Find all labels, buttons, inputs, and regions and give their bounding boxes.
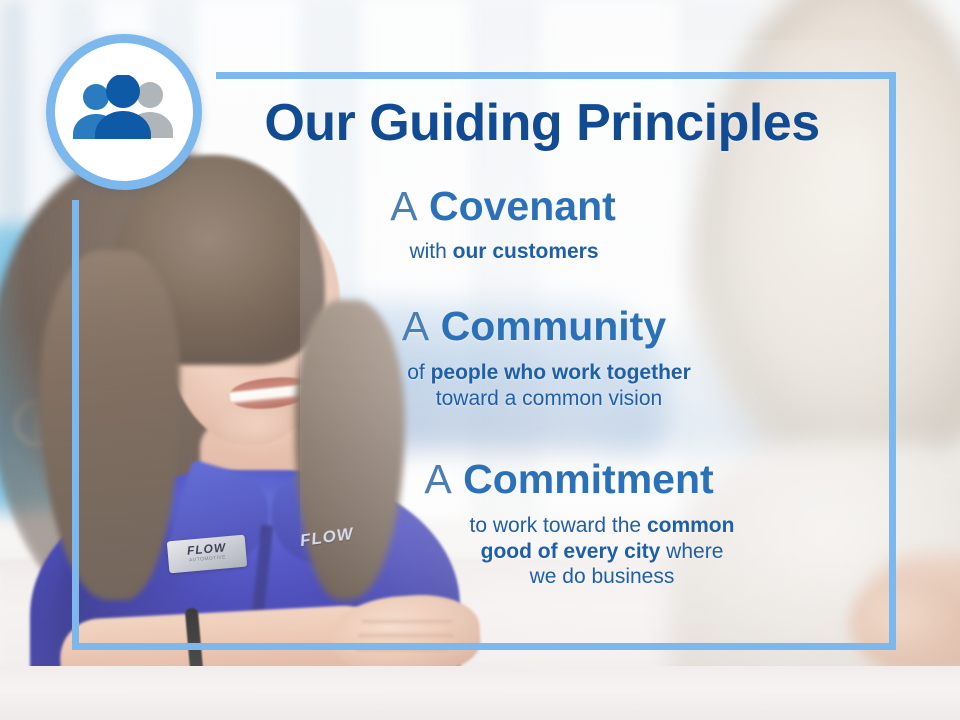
desk-foreground xyxy=(0,666,960,720)
promo-graphic: FLOW AUTOMOTIVE FLOW xyxy=(0,0,960,720)
subtext-part: where xyxy=(660,540,723,563)
principle-keyword: Commitment xyxy=(463,456,714,502)
employee-finger-line xyxy=(358,634,454,637)
principle-covenant-subtext: with our customers xyxy=(110,239,880,265)
principle-article: A xyxy=(424,456,451,502)
subtext-part: to work toward the xyxy=(470,514,647,537)
principle-commitment-heading: A Commitment xyxy=(110,457,880,501)
subtext-part: with xyxy=(409,240,452,263)
page-title: Our Guiding Principles xyxy=(222,96,862,151)
subtext-part: of xyxy=(407,361,430,384)
subtext-emphasis: our customers xyxy=(453,240,599,263)
principle-article: A xyxy=(402,303,429,349)
principle-community-heading: A Community xyxy=(110,304,880,348)
principle-community: A Community of people who work together … xyxy=(110,304,880,411)
principle-community-subtext: of people who work together toward a com… xyxy=(110,360,880,411)
subtext-emphasis: people who work together xyxy=(431,361,691,384)
principle-article: A xyxy=(390,183,417,229)
principle-commitment: A Commitment to work toward the common g… xyxy=(110,457,880,590)
subtext-part: toward a common vision xyxy=(436,387,662,410)
subtext-part: we do business xyxy=(530,565,675,588)
principle-covenant: A Covenant with our customers xyxy=(110,184,880,265)
employee-finger-line xyxy=(356,648,448,651)
principle-commitment-subtext: to work toward the common good of every … xyxy=(110,513,880,590)
subtext-emphasis: common xyxy=(647,514,735,537)
principle-covenant-heading: A Covenant xyxy=(110,184,880,228)
principle-keyword: Covenant xyxy=(429,183,616,229)
subtext-emphasis: good of every city xyxy=(481,540,661,563)
text-content: Our Guiding Principles A Covenant with o… xyxy=(110,74,880,634)
principle-keyword: Community xyxy=(441,303,667,349)
